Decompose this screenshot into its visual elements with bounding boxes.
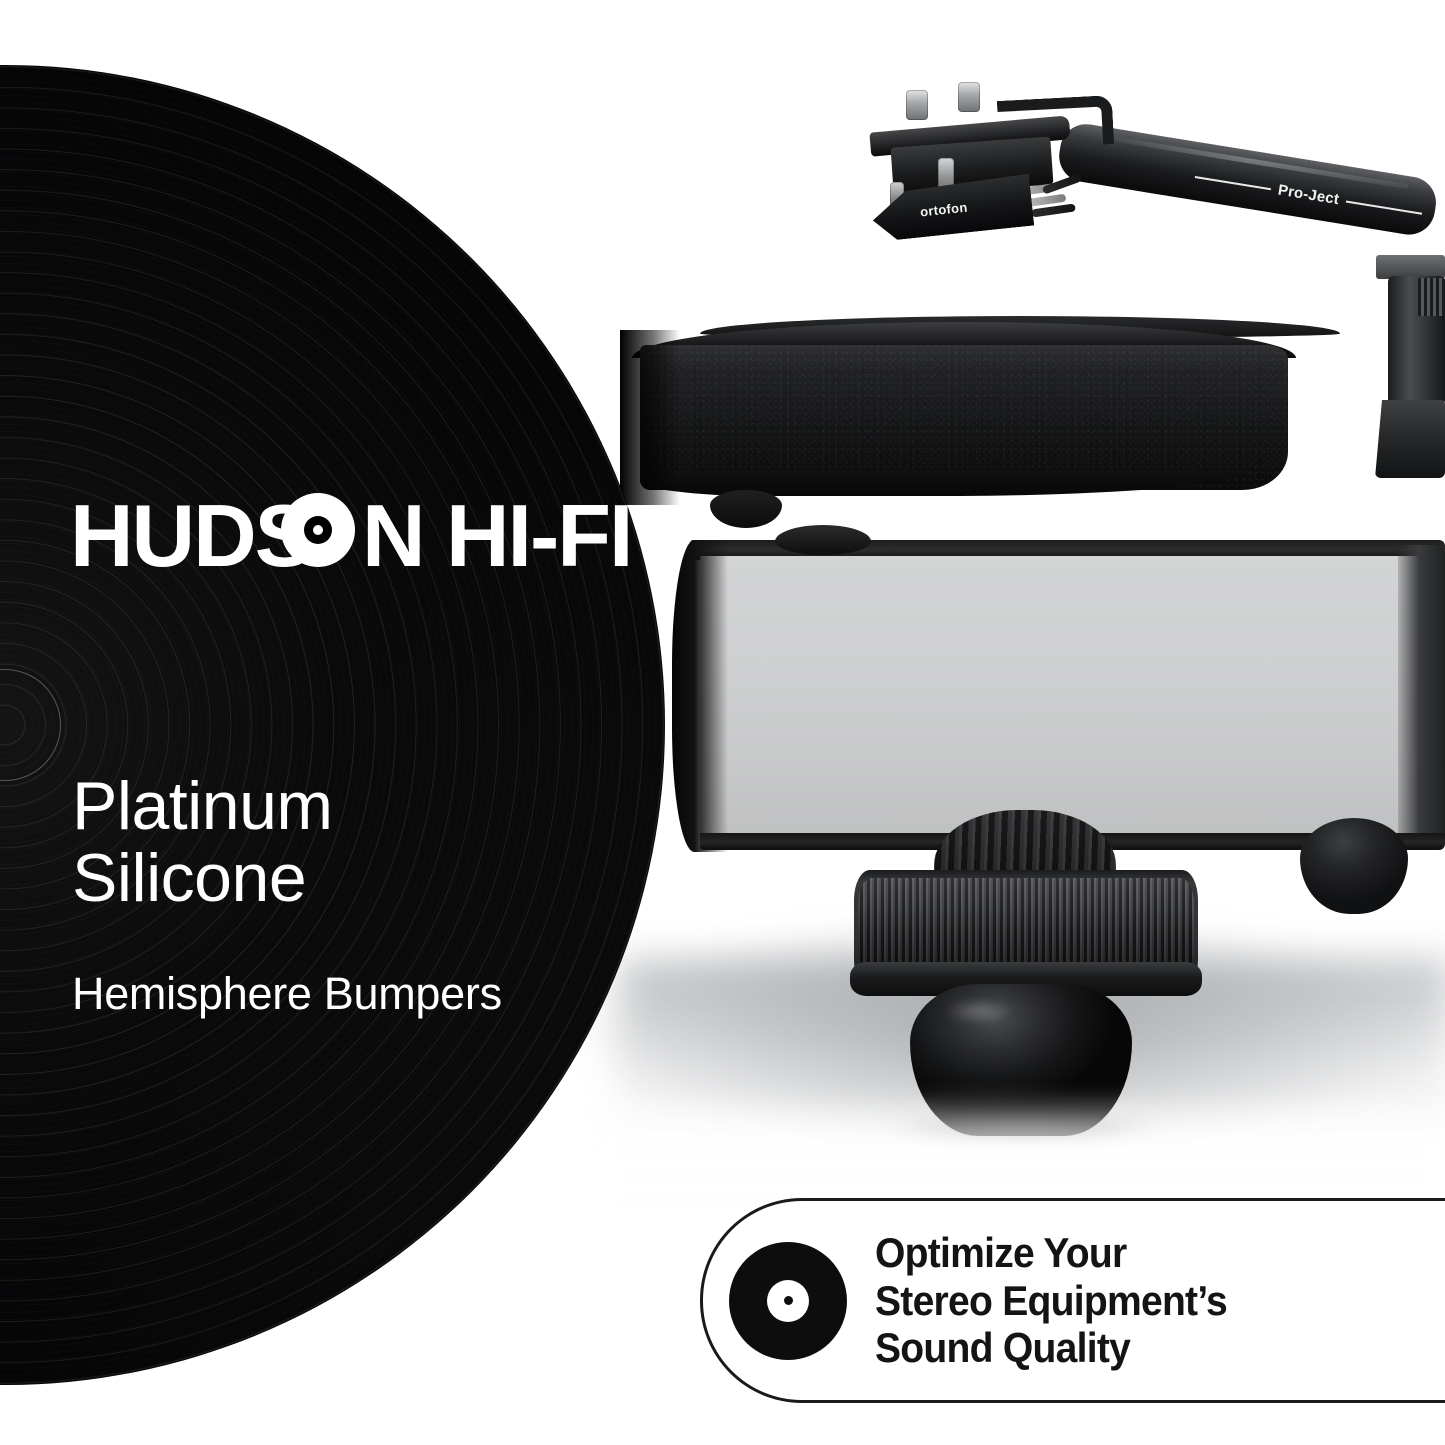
surface-highlight	[600, 1090, 1445, 1210]
turntable-plinth	[700, 556, 1445, 838]
headshell-screw	[906, 90, 928, 120]
product-subtitle: Hemisphere Bumpers	[72, 968, 652, 1020]
headshell-assembly: ortofon	[862, 96, 1112, 226]
value-proposition-badge: Optimize Your Stereo Equipment’s Sound Q…	[700, 1198, 1445, 1403]
badge-line-1: Optimize Your	[875, 1229, 1227, 1277]
vinyl-spindle-hole	[784, 1296, 793, 1305]
headshell-screw	[958, 82, 980, 112]
bumper-knurl-shading	[858, 878, 1194, 974]
turntable-platter	[640, 345, 1288, 490]
motor-pulley	[775, 525, 871, 555]
bumper-dome-highlight	[944, 998, 1014, 1024]
spindle-bearing	[710, 490, 782, 528]
page-title: Platinum Silicone	[72, 770, 632, 914]
plinth-left-edge	[672, 540, 728, 852]
logo-text-part-1: HUDS	[70, 486, 311, 585]
plinth-right-edge	[1398, 545, 1445, 845]
badge-line-3: Sound Quality	[875, 1324, 1227, 1372]
vinyl-record-icon	[281, 493, 355, 567]
hudson-hifi-logo: HUDS N HI-FI	[70, 478, 630, 598]
headline-line-2: Silicone	[72, 842, 632, 914]
vinyl-record-icon	[729, 1242, 847, 1360]
pivot-column-ridges	[1418, 278, 1445, 316]
product-marketing-image: Pro-Ject ortofon	[0, 0, 1445, 1445]
tonearm-pivot-base	[1375, 400, 1445, 478]
logo-text-part-2: N HI-FI	[362, 486, 632, 585]
badge-line-2: Stereo Equipment’s	[875, 1277, 1227, 1325]
badge-text-block: Optimize Your Stereo Equipment’s Sound Q…	[875, 1229, 1227, 1373]
headline-line-1: Platinum	[72, 770, 632, 842]
platter-texture	[640, 345, 1288, 490]
silicone-hemisphere-bumper	[848, 812, 1204, 1112]
bumper-knurled-band	[858, 878, 1194, 974]
